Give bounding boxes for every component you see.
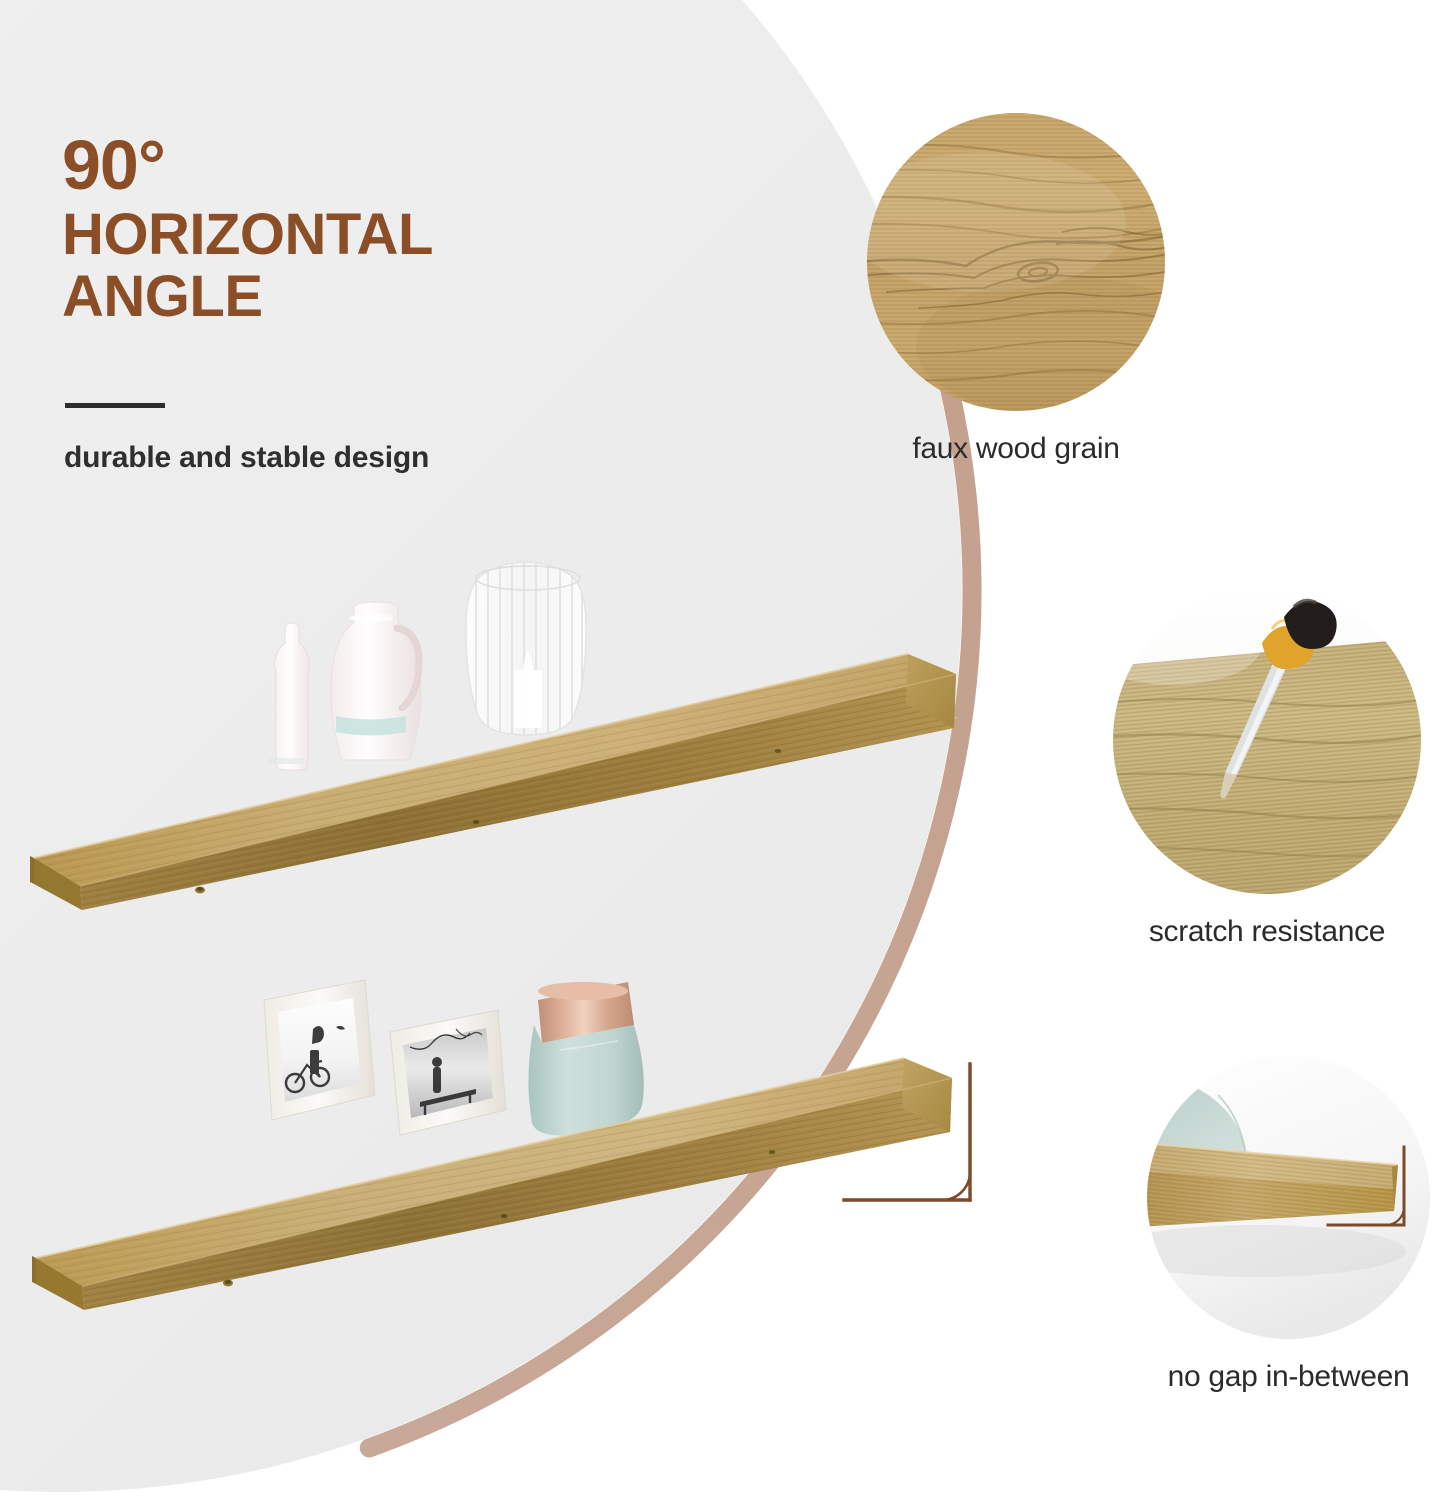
upper-floating-shelf [10,600,990,960]
faux-wood-grain-swatch [866,112,1166,412]
headline-block: 90° HORIZONTAL ANGLE [62,128,682,328]
headline-line-1: HORIZONTAL [62,204,682,266]
product-feature-page: 90° HORIZONTAL ANGLE durable and stable … [0,0,1445,1500]
headline-subtitle: durable and stable design [64,440,429,476]
feature-caption: faux wood grain [866,432,1166,466]
lower-floating-shelf [10,1040,990,1320]
headline-line-2: ANGLE [62,266,682,328]
feature-scratch-resistance: scratch resistance [1112,585,1422,949]
feature-no-gap-in-between: no gap in-between [1146,1055,1431,1394]
scratch-resistance-photo [1112,585,1422,895]
no-gap-photo [1146,1055,1431,1340]
headline-degree: 90° [62,128,682,202]
feature-caption: no gap in-between [1146,1360,1431,1394]
feature-faux-wood-grain: faux wood grain [866,112,1166,466]
feature-caption: scratch resistance [1112,915,1422,949]
headline-divider [65,403,165,408]
